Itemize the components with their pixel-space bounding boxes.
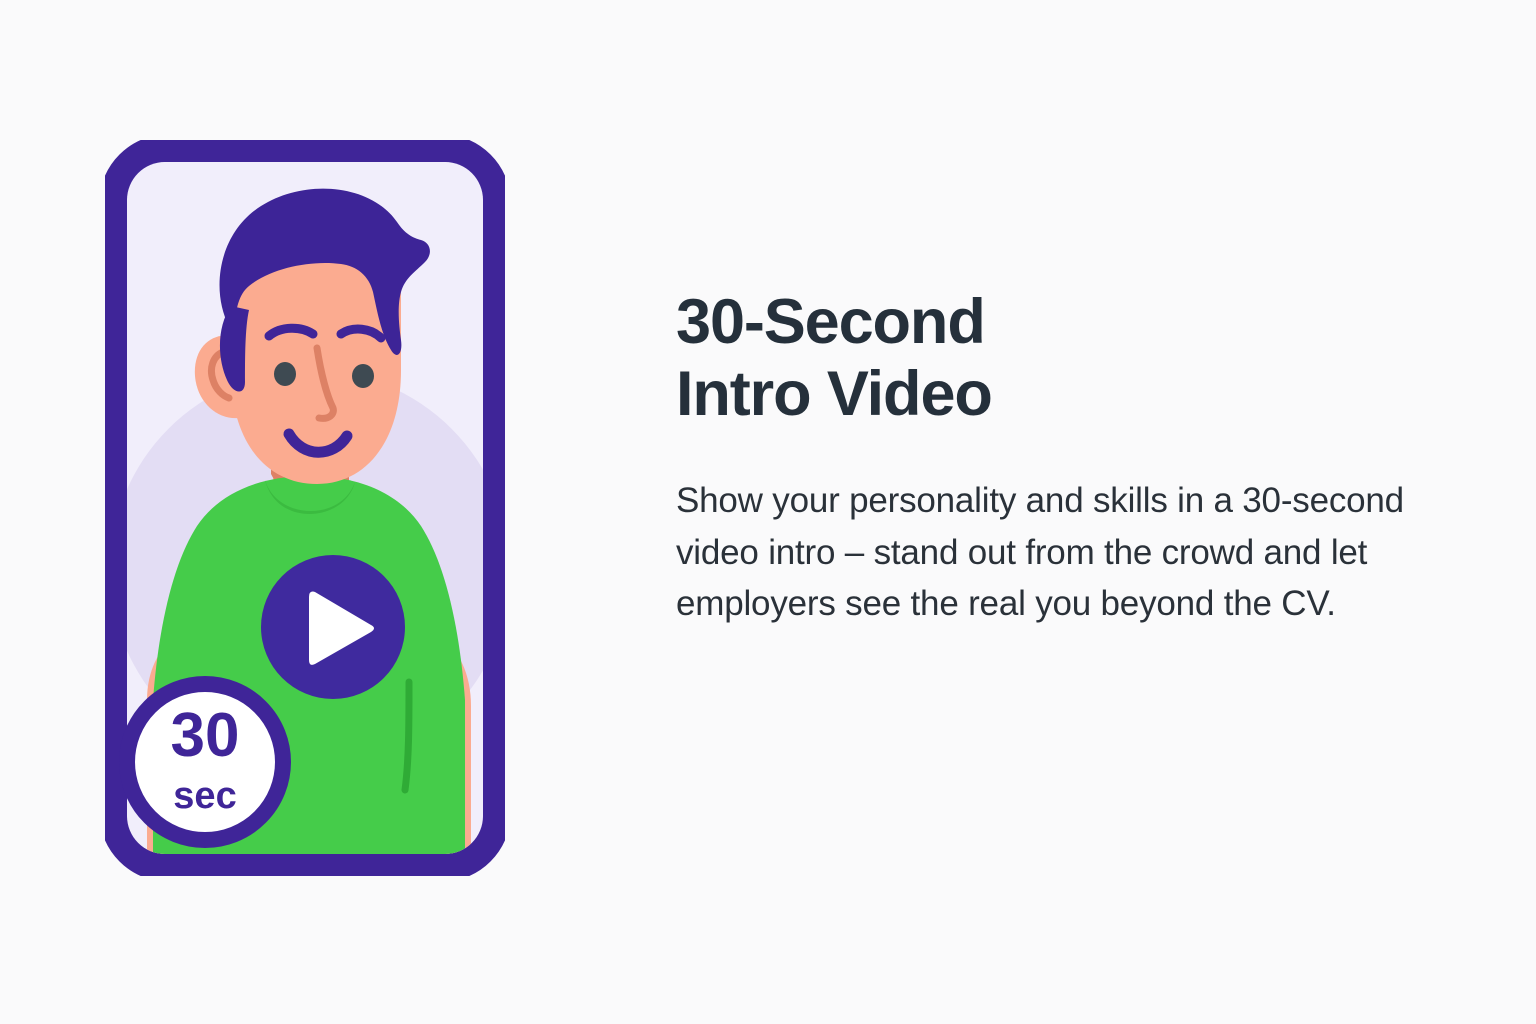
- duration-badge-unit: sec: [173, 775, 236, 817]
- phone-illustration: 30 sec: [105, 140, 505, 876]
- feature-text-column: 30-Second Intro Video Show your personal…: [676, 286, 1466, 630]
- play-button[interactable]: [261, 555, 405, 699]
- character-eye-right: [352, 364, 374, 388]
- character-eye-left: [274, 362, 296, 386]
- duration-badge-value: 30: [171, 701, 240, 770]
- page-title: 30-Second Intro Video: [676, 286, 1466, 431]
- feature-description: Show your personality and skills in a 30…: [676, 431, 1446, 630]
- feature-section: 30 sec 30-Second Intro Video Show your p…: [0, 0, 1536, 1024]
- phone-mockup-svg: 30 sec: [105, 140, 505, 876]
- shirt-right-seam: [405, 682, 409, 790]
- duration-badge: 30 sec: [127, 684, 283, 840]
